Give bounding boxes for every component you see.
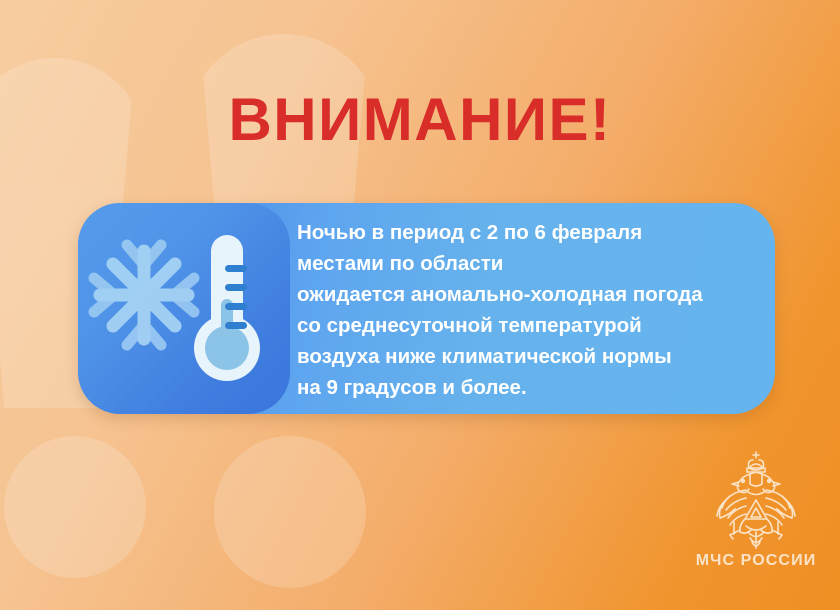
warning-line-5: воздуха ниже климатической нормы [297, 341, 767, 372]
warning-line-4: со среднесуточной температурой [297, 310, 767, 341]
cold-weather-icon-group [78, 203, 290, 414]
warning-line-1: Ночью в период с 2 по 6 февраля [297, 217, 767, 248]
mchs-logo-label: МЧС РОССИИ [690, 552, 822, 570]
warning-message: Ночью в период с 2 по 6 февраля местами … [297, 217, 767, 403]
thermometer-icon [194, 235, 260, 381]
warning-card: Ночью в период с 2 по 6 февраля местами … [78, 203, 775, 414]
mchs-logo: МЧС РОССИИ [690, 448, 822, 580]
warning-line-3: ожидается аномально-холодная погода [297, 279, 767, 310]
icon-panel [78, 203, 290, 414]
watermark-exclamation-dot-1 [4, 436, 146, 578]
weather-warning-poster: ВНИМАНИЕ! [0, 0, 840, 610]
warning-line-2: местами по области [297, 248, 767, 279]
double-headed-eagle-emblem-icon [702, 448, 810, 552]
warning-line-6: на 9 градусов и более. [297, 372, 767, 403]
page-title: ВНИМАНИЕ! [0, 88, 840, 152]
snowflake-icon [94, 245, 194, 414]
watermark-exclamation-dot-2 [214, 436, 366, 588]
